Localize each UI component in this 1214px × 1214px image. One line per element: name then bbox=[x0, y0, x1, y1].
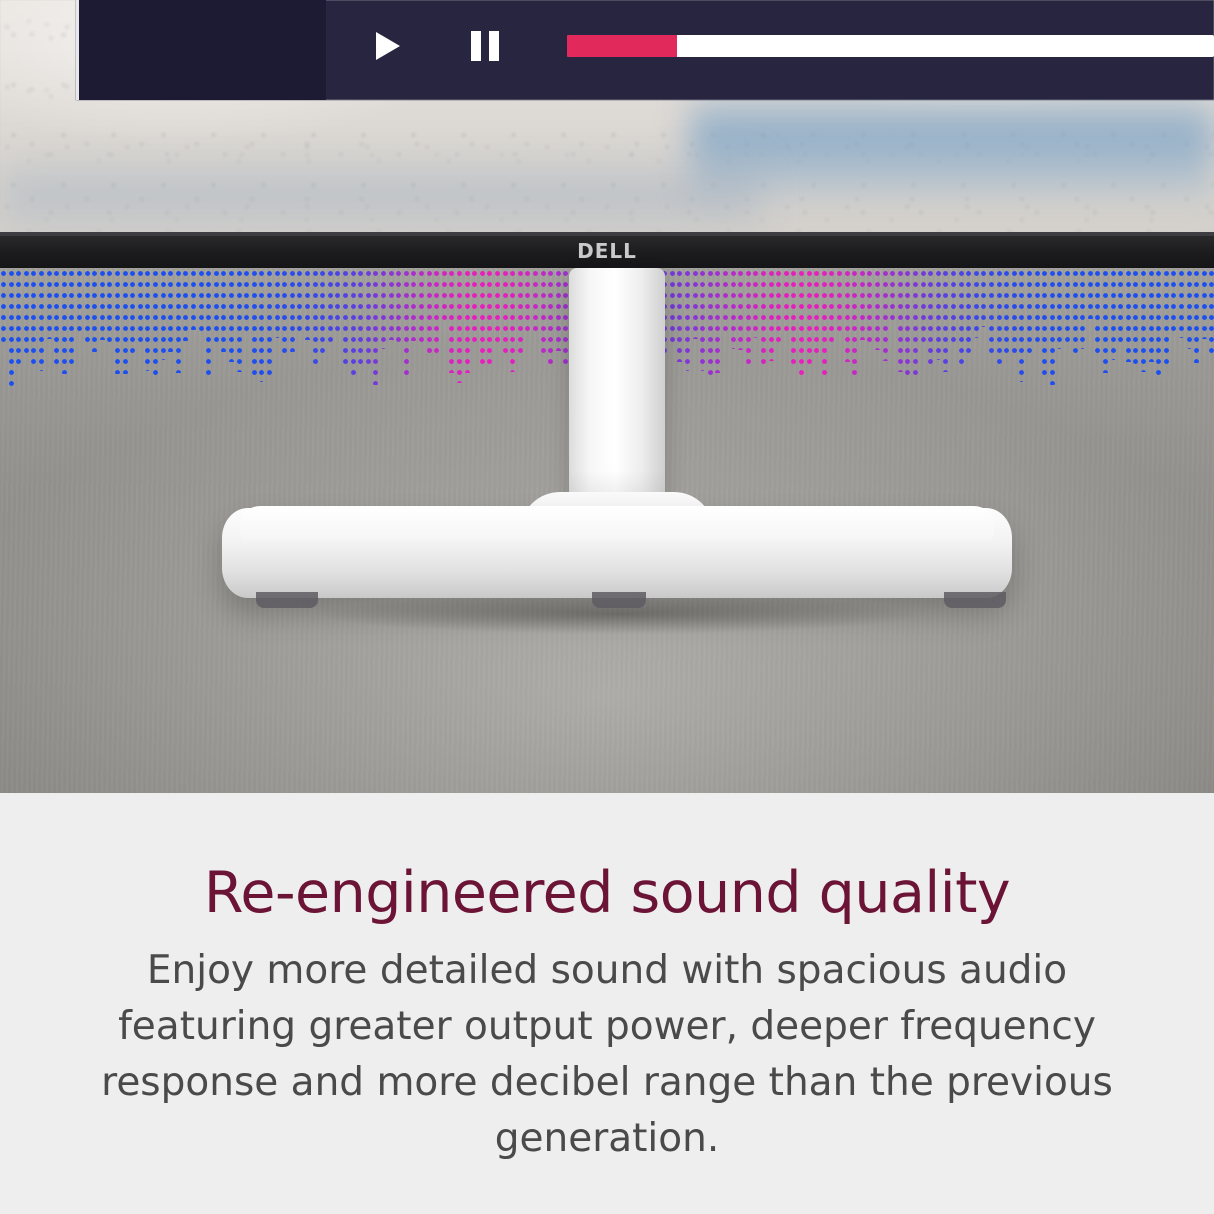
equalizer-bar bbox=[220, 268, 227, 352]
equalizer-bar bbox=[68, 268, 75, 364]
product-photo: DELL bbox=[0, 0, 1214, 793]
equalizer-bar bbox=[1148, 268, 1155, 362]
equalizer-bar bbox=[768, 268, 775, 361]
equalizer-bar bbox=[76, 268, 83, 332]
equalizer-bar bbox=[1041, 268, 1048, 380]
equalizer-bar bbox=[319, 268, 326, 358]
equalizer-bar bbox=[456, 268, 463, 383]
equalizer-bar bbox=[213, 268, 220, 347]
equalizer-bar bbox=[1026, 268, 1033, 353]
equalizer-bar bbox=[395, 268, 402, 342]
equalizer-bar bbox=[844, 268, 851, 362]
equalizer-bar bbox=[882, 268, 889, 361]
equalizer-bar bbox=[828, 268, 835, 348]
equalizer-bar bbox=[106, 268, 113, 348]
equalizer-bar bbox=[441, 268, 448, 326]
equalizer-bar bbox=[1186, 268, 1193, 349]
equalizer-bar bbox=[175, 268, 182, 373]
equalizer-bar bbox=[547, 268, 554, 367]
equalizer-bar bbox=[692, 268, 699, 339]
equalizer-bar bbox=[1079, 268, 1086, 349]
equalizer-bar bbox=[426, 268, 433, 355]
equalizer-bar bbox=[403, 268, 410, 379]
headline: Re-engineered sound quality bbox=[0, 793, 1214, 925]
equalizer-bar bbox=[813, 268, 820, 357]
dell-brand-logo: DELL bbox=[577, 239, 637, 263]
equalizer-bar bbox=[669, 268, 676, 347]
equalizer-bar bbox=[1056, 268, 1063, 349]
equalizer-bar bbox=[236, 268, 243, 372]
monitor-bezel-highlight bbox=[0, 232, 1214, 236]
equalizer-bar bbox=[965, 268, 972, 355]
playback-progress-fill bbox=[567, 35, 677, 57]
equalizer-bar bbox=[152, 268, 159, 381]
equalizer-bar bbox=[866, 268, 873, 342]
equalizer-bar bbox=[486, 268, 493, 366]
equalizer-bar bbox=[798, 268, 805, 379]
wall-blue-blur-right bbox=[690, 88, 1214, 198]
stand-foot-right bbox=[944, 592, 1006, 608]
equalizer-bar bbox=[1064, 268, 1071, 345]
equalizer-bar bbox=[980, 268, 987, 327]
equalizer-bar bbox=[1155, 268, 1162, 377]
monitor-stand-base-top bbox=[240, 506, 994, 540]
equalizer-bar bbox=[1125, 268, 1132, 362]
equalizer-bar bbox=[137, 268, 144, 345]
equalizer-bar bbox=[920, 268, 927, 343]
equalizer-bar bbox=[836, 268, 843, 336]
equalizer-bar bbox=[114, 268, 121, 374]
equalizer-bar bbox=[327, 268, 334, 346]
play-icon[interactable] bbox=[376, 32, 400, 60]
equalizer-bar bbox=[783, 268, 790, 335]
equalizer-bar bbox=[1094, 268, 1101, 359]
equalizer-bar bbox=[988, 268, 995, 356]
equalizer-bar bbox=[91, 268, 98, 352]
equalizer-bar bbox=[874, 268, 881, 350]
equalizer-bar bbox=[312, 268, 319, 370]
equalizer-bar bbox=[889, 268, 896, 326]
equalizer-bar bbox=[540, 268, 547, 355]
equalizer-bar bbox=[144, 268, 151, 371]
equalizer-bar bbox=[1117, 268, 1124, 342]
equalizer-bar bbox=[494, 268, 501, 342]
equalizer-bar bbox=[1072, 268, 1079, 355]
wall-blue-blur-left bbox=[0, 150, 760, 230]
equalizer-bar bbox=[760, 268, 767, 364]
equalizer-bar bbox=[950, 268, 957, 344]
equalizer-bar bbox=[251, 268, 258, 379]
equalizer-bar bbox=[1193, 268, 1200, 363]
media-player-panel-left bbox=[76, 0, 326, 100]
equalizer-bar bbox=[806, 268, 813, 365]
equalizer-bar bbox=[479, 268, 486, 368]
equalizer-bar bbox=[296, 268, 303, 337]
equalizer-bar bbox=[266, 268, 273, 376]
equalizer-bar bbox=[745, 268, 752, 365]
equalizer-bar bbox=[1049, 268, 1056, 385]
equalizer-bar bbox=[46, 268, 53, 339]
equalizer-bar bbox=[1110, 268, 1117, 360]
equalizer-bar bbox=[190, 268, 197, 330]
equalizer-bar bbox=[129, 268, 136, 358]
equalizer-bar bbox=[1163, 268, 1170, 368]
equalizer-bar bbox=[1087, 268, 1094, 319]
equalizer-bar bbox=[714, 268, 721, 373]
equalizer-bar bbox=[502, 268, 509, 353]
equalizer-bar bbox=[274, 268, 281, 338]
equalizer-bar bbox=[532, 268, 539, 335]
equalizer-bar bbox=[205, 268, 212, 380]
body-text: Enjoy more detailed sound with spacious … bbox=[0, 925, 1214, 1167]
media-player-panel-edge bbox=[76, 0, 79, 100]
equalizer-bar bbox=[1170, 268, 1177, 337]
equalizer-bar bbox=[30, 268, 37, 370]
equalizer-bar bbox=[350, 268, 357, 377]
equalizer-bar bbox=[904, 268, 911, 379]
equalizer-bar bbox=[1178, 268, 1185, 338]
equalizer-bar bbox=[684, 268, 691, 371]
equalizer-bar bbox=[53, 268, 60, 364]
equalizer-bar bbox=[160, 268, 167, 360]
equalizer-bar bbox=[15, 268, 22, 366]
equalizer-bar bbox=[433, 268, 440, 357]
playback-progress-bar[interactable] bbox=[567, 35, 1214, 57]
equalizer-bar bbox=[334, 268, 341, 337]
equalizer-bar bbox=[198, 268, 205, 333]
equalizer-bar bbox=[912, 268, 919, 377]
equalizer-bar bbox=[1208, 268, 1214, 357]
equalizer-bar bbox=[1201, 268, 1208, 339]
equalizer-bar bbox=[388, 268, 395, 340]
equalizer-bar bbox=[1011, 268, 1018, 359]
equalizer-bar bbox=[927, 268, 934, 364]
equalizer-bar bbox=[1034, 268, 1041, 344]
equalizer-bar bbox=[365, 268, 372, 364]
equalizer-bar bbox=[464, 268, 471, 373]
equalizer-bar bbox=[821, 268, 828, 381]
equalizer-bar bbox=[167, 268, 174, 352]
equalizer-bar bbox=[243, 268, 250, 336]
equalizer-bar bbox=[699, 268, 706, 371]
equalizer-bar bbox=[935, 268, 942, 360]
equalizer-bar bbox=[471, 268, 478, 348]
equalizer-bar bbox=[509, 268, 516, 372]
product-feature-card: DELL Re-engineered sound quality Enjoy m… bbox=[0, 0, 1214, 1214]
equalizer-bar bbox=[859, 268, 866, 340]
equalizer-bar bbox=[84, 268, 91, 344]
equalizer-bar bbox=[380, 268, 387, 349]
equalizer-bar bbox=[1132, 268, 1139, 368]
equalizer-bar bbox=[342, 268, 349, 370]
equalizer-bar bbox=[775, 268, 782, 348]
stand-foot-left bbox=[256, 592, 318, 608]
equalizer-bar bbox=[517, 268, 524, 359]
equalizer-bar bbox=[38, 268, 45, 371]
equalizer-bar bbox=[372, 268, 379, 385]
equalizer-bar bbox=[1003, 268, 1010, 355]
equalizer-bar bbox=[973, 268, 980, 338]
equalizer-bar bbox=[448, 268, 455, 373]
equalizer-bar bbox=[555, 268, 562, 351]
equalizer-bar bbox=[851, 268, 858, 378]
equalizer-bar bbox=[730, 268, 737, 349]
equalizer-bar bbox=[23, 268, 30, 355]
equalizer-bar bbox=[942, 268, 949, 372]
equalizer-bar bbox=[410, 268, 417, 341]
equalizer-bar bbox=[228, 268, 235, 362]
equalizer-bar bbox=[707, 268, 714, 379]
equalizer-bar bbox=[99, 268, 106, 340]
equalizer-bar bbox=[1018, 268, 1025, 382]
equalizer-bar bbox=[524, 268, 531, 335]
equalizer-bar bbox=[1140, 268, 1147, 372]
equalizer-bar bbox=[289, 268, 296, 352]
equalizer-bar bbox=[996, 268, 1003, 367]
equalizer-bar bbox=[357, 268, 364, 366]
equalizer-bar bbox=[281, 268, 288, 358]
equalizer-bar bbox=[722, 268, 729, 336]
equalizer-bar bbox=[676, 268, 683, 362]
equalizer-bar bbox=[8, 268, 15, 387]
equalizer-bar bbox=[418, 268, 425, 345]
equalizer-bar bbox=[0, 268, 7, 344]
equalizer-bar bbox=[1102, 268, 1109, 373]
equalizer-bar bbox=[737, 268, 744, 350]
equalizer-bar bbox=[958, 268, 965, 369]
equalizer-bar bbox=[897, 268, 904, 372]
stand-foot-center bbox=[592, 592, 646, 608]
equalizer-bar bbox=[304, 268, 311, 340]
equalizer-bar bbox=[752, 268, 759, 338]
equalizer-bar bbox=[122, 268, 129, 374]
equalizer-bar bbox=[790, 268, 797, 367]
equalizer-bar bbox=[182, 268, 189, 341]
caption-block: Re-engineered sound quality Enjoy more d… bbox=[0, 793, 1214, 1214]
pause-icon[interactable] bbox=[471, 31, 499, 61]
equalizer-bar bbox=[258, 268, 265, 382]
equalizer-bar bbox=[61, 268, 68, 374]
